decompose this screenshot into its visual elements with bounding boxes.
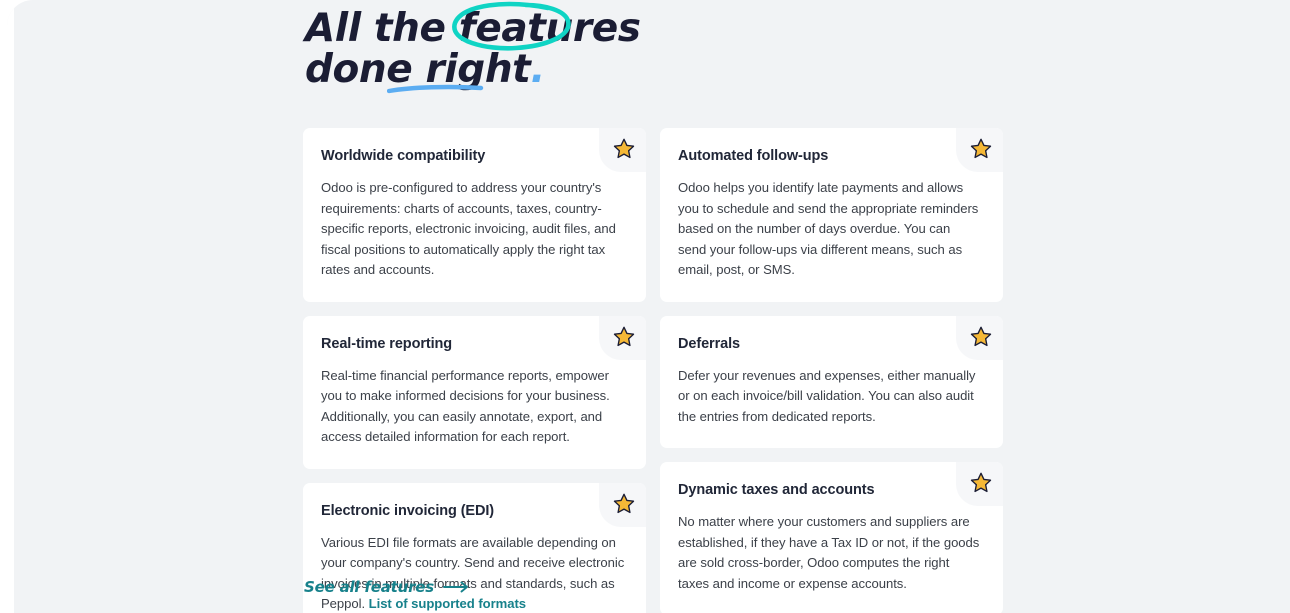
heading-highlight-text: features (459, 6, 641, 51)
heading-line-1: All the (305, 6, 459, 51)
hero-container: All the features done right. (296, 0, 1010, 90)
see-all-features-link[interactable]: See all features (304, 578, 469, 596)
feature-card[interactable]: Dynamic taxes and accounts No matter whe… (660, 462, 1003, 613)
feature-card-title: Dynamic taxes and accounts (678, 481, 982, 499)
feature-card-title: Automated follow-ups (678, 147, 982, 165)
feature-card-title: Electronic invoicing (EDI) (321, 502, 625, 520)
feature-card[interactable]: Real-time reporting Real-time financial … (303, 316, 646, 469)
feature-section: All the features done right. Worldwide c… (7, 0, 1290, 613)
heading-line-2-text: done right (305, 47, 530, 92)
supported-formats-link[interactable]: List of supported formats (369, 596, 526, 611)
feature-card-body: Odoo helps you identify late payments an… (678, 178, 982, 281)
feature-card-title: Worldwide compatibility (321, 147, 625, 165)
feature-card-body: No matter where your customers and suppl… (678, 512, 982, 594)
heading-period: . (530, 47, 544, 92)
star-icon (599, 483, 646, 527)
features-grid: Worldwide compatibility Odoo is pre-conf… (303, 128, 1003, 613)
star-icon (599, 128, 646, 172)
feature-card[interactable]: Worldwide compatibility Odoo is pre-conf… (303, 128, 646, 302)
page-title: All the features done right. (296, 0, 1010, 90)
feature-card[interactable]: Automated follow-ups Odoo helps you iden… (660, 128, 1003, 302)
arrow-right-icon (443, 581, 469, 593)
feature-card-body: Real-time financial performance reports,… (321, 366, 625, 448)
features-column-right: Automated follow-ups Odoo helps you iden… (660, 128, 1003, 613)
feature-card-title: Deferrals (678, 335, 982, 353)
heading-line-2: done right. (305, 49, 545, 90)
feature-card[interactable]: Deferrals Defer your revenues and expens… (660, 316, 1003, 449)
heading-highlight-word: features (459, 8, 641, 49)
star-icon (956, 316, 1003, 360)
star-icon (956, 462, 1003, 506)
features-column-left: Worldwide compatibility Odoo is pre-conf… (303, 128, 646, 613)
feature-card-body: Defer your revenues and expenses, either… (678, 366, 982, 428)
feature-card-body: Various EDI file formats are available d… (321, 533, 625, 613)
feature-card-body: Odoo is pre-configured to address your c… (321, 178, 625, 281)
star-icon (956, 128, 1003, 172)
see-all-features-label: See all features (304, 578, 434, 596)
feature-card-title: Real-time reporting (321, 335, 625, 353)
star-icon (599, 316, 646, 360)
page-left-edge (7, 0, 14, 613)
